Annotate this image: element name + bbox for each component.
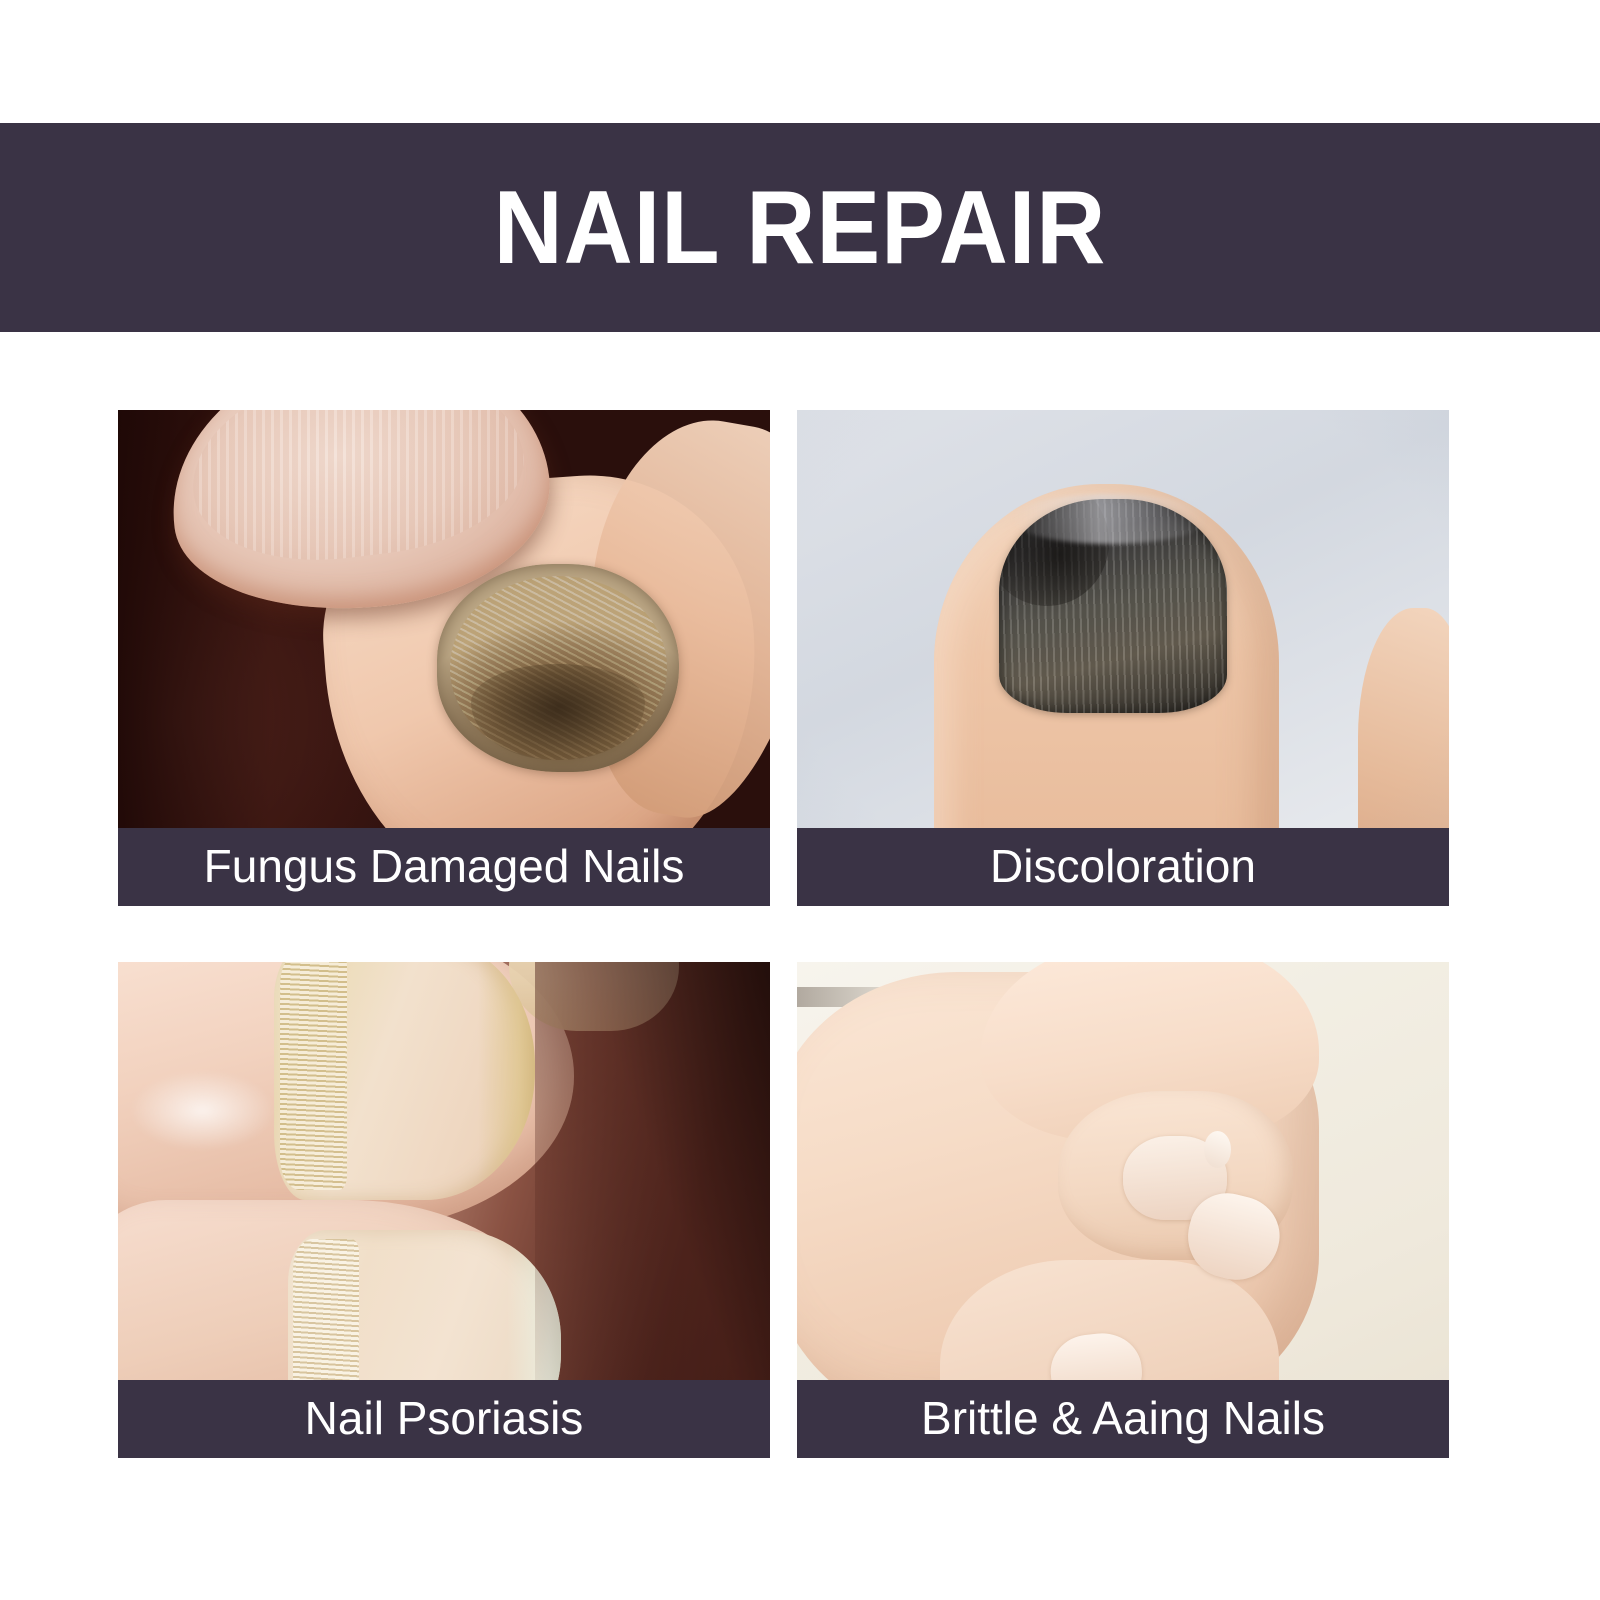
condition-caption-bar-nail-psoriasis: Nail Psoriasis xyxy=(118,1380,770,1458)
condition-caption-bar-discoloration: Discoloration xyxy=(797,828,1449,906)
condition-caption-bar-fungus-damaged-nails: Fungus Damaged Nails xyxy=(118,828,770,906)
page-title: NAIL REPAIR xyxy=(494,176,1107,280)
condition-card-brittle-aging-nails[interactable]: Brittle & Aaing Nails xyxy=(797,962,1449,1458)
condition-card-fungus-damaged-nails[interactable]: Fungus Damaged Nails xyxy=(118,410,770,906)
condition-card-nail-psoriasis[interactable]: Nail Psoriasis xyxy=(118,962,770,1458)
product-infographic-page: NAIL REPAIR Fungus Damaged Nails xyxy=(0,0,1600,1600)
conditions-grid: Fungus Damaged Nails Discoloration xyxy=(118,410,1458,1458)
condition-caption-text: Discoloration xyxy=(990,843,1256,889)
condition-caption-text: Nail Psoriasis xyxy=(305,1395,584,1441)
fungal-nail-shape xyxy=(437,564,678,772)
condition-caption-bar-brittle-aging-nails: Brittle & Aaing Nails xyxy=(797,1380,1449,1458)
condition-card-discoloration[interactable]: Discoloration xyxy=(797,410,1449,906)
condition-caption-text: Brittle & Aaing Nails xyxy=(921,1395,1325,1441)
condition-caption-text: Fungus Damaged Nails xyxy=(204,843,685,889)
header-banner: NAIL REPAIR xyxy=(0,123,1600,332)
psoriatic-nail-upper xyxy=(274,962,535,1200)
